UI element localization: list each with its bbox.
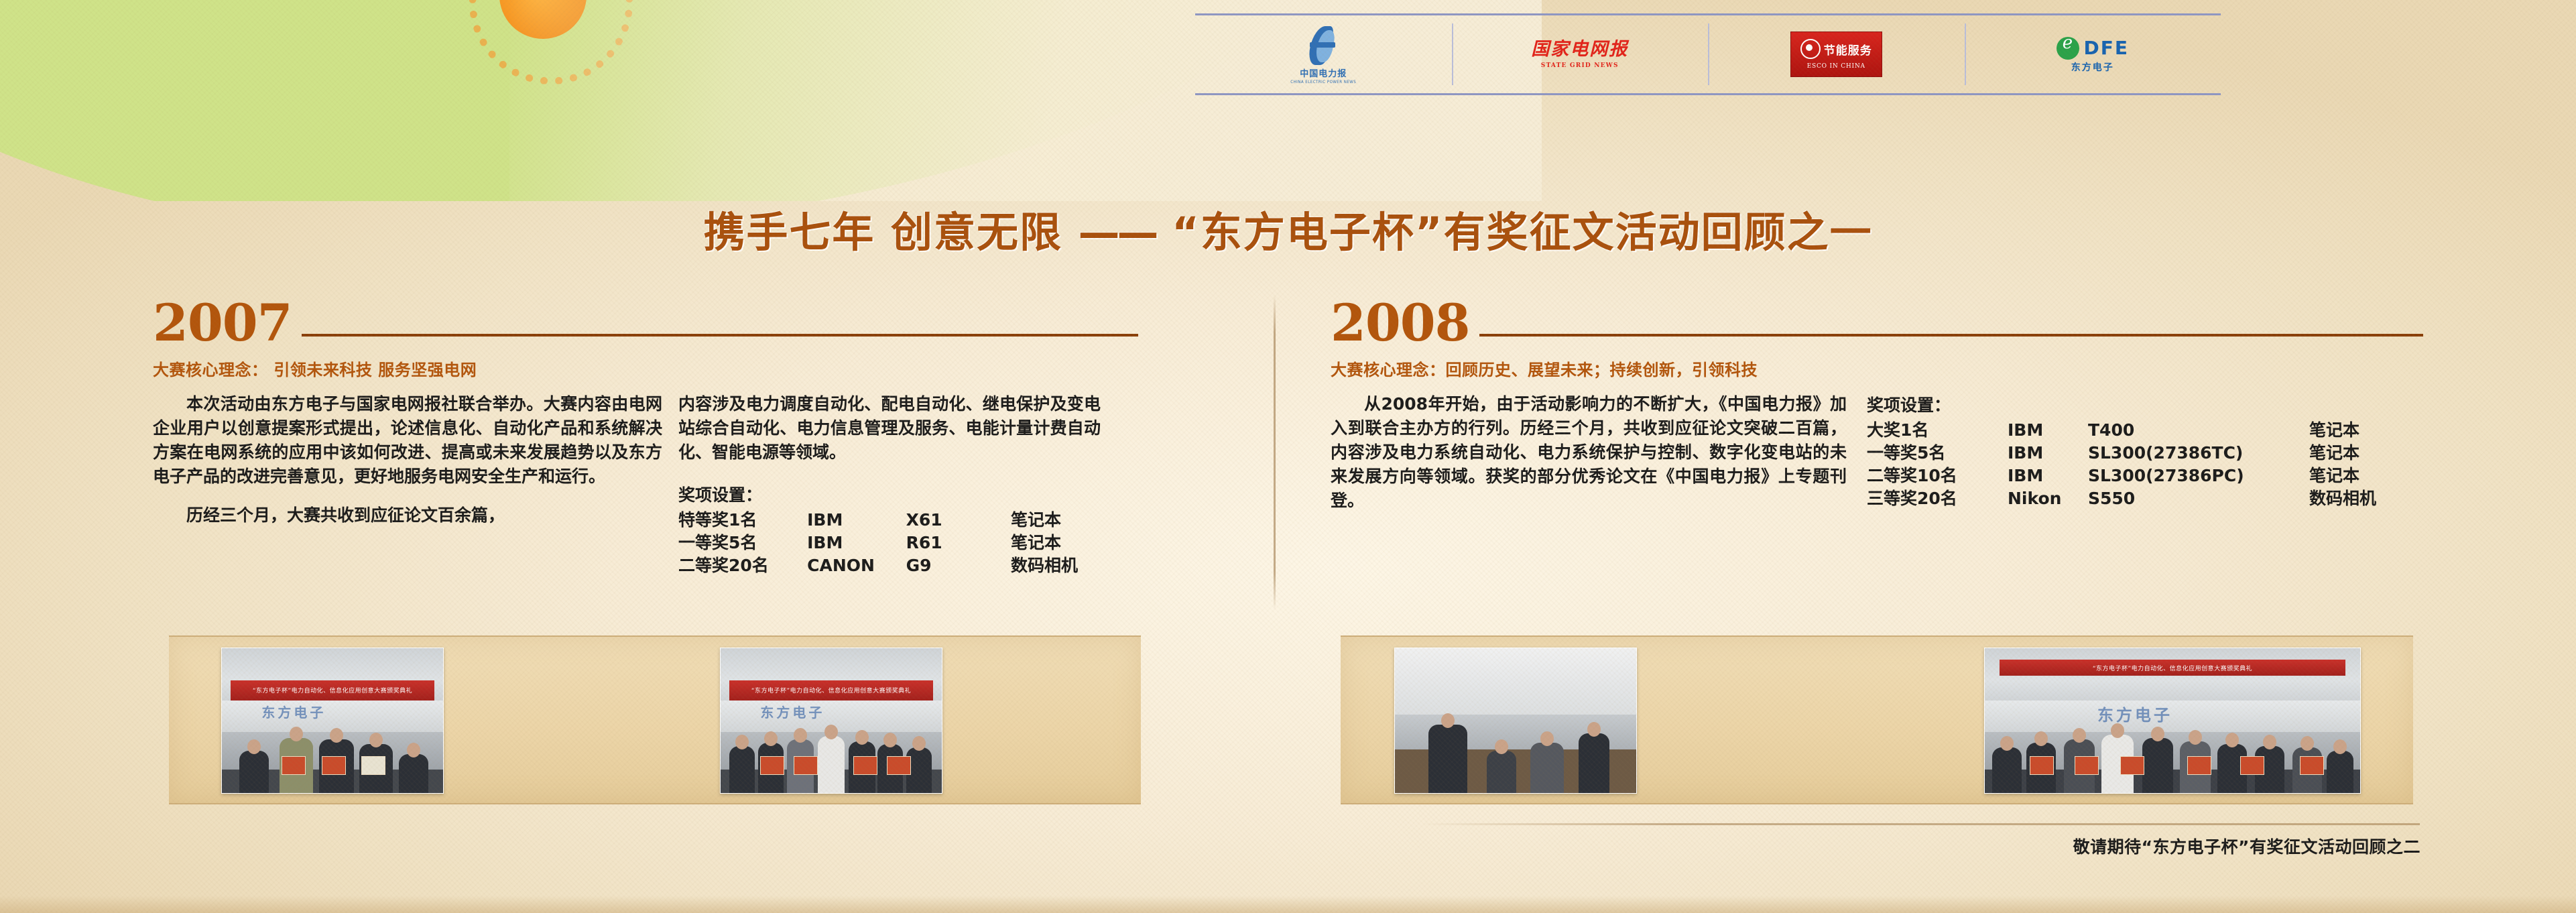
- award-level: 二等奖20名: [678, 554, 807, 577]
- page-title-left: 携手七年 创意无限: [703, 208, 1062, 257]
- award-prize: 数码相机: [1011, 554, 1101, 577]
- year-rule-2007: [302, 334, 1138, 337]
- photo-2007-1: 东方电子 “东方电子杯”电力自动化、信息化应用创意大赛颁奖典礼: [221, 648, 444, 794]
- slogan-2007: 大赛核心理念： 引领未来科技 服务坚强电网: [153, 357, 1138, 380]
- award-model: SL300(27386PC): [2088, 465, 2309, 487]
- photo-2007-2: 东方电子 “东方电子杯”电力自动化、信息化应用创意大赛颁奖典礼: [720, 648, 942, 794]
- slogan-2008: 大赛核心理念：回顾历史、展望未来；持续创新，引领科技: [1331, 357, 2423, 380]
- table-row: 二等奖20名 CANON G9 数码相机: [678, 554, 1101, 577]
- year-label-2007: 2007: [153, 299, 292, 347]
- logo-1-name: 中国电力报: [1300, 70, 1347, 78]
- page-title-right: “东方电子杯”有奖征文活动回顾之一: [1172, 208, 1873, 257]
- award-prize: 数码相机: [2309, 487, 2410, 510]
- award-brand: IBM: [2008, 465, 2088, 487]
- table-row: 特等奖1名 IBM X61 笔记本: [678, 509, 1101, 532]
- award-model: X61: [906, 509, 1011, 532]
- table-row: 大奖1名 IBM T400 笔记本: [1867, 419, 2410, 442]
- body-column-right-2008: 奖项设置： 大奖1名 IBM T400 笔记本 一等奖5名 IBM SL300(…: [1867, 392, 2410, 513]
- awards-table-2008: 大奖1名 IBM T400 笔记本 一等奖5名 IBM SL300(27386T…: [1867, 419, 2410, 510]
- body-column-right-2007: 内容涉及电力调度自动化、配电自动化、继电保护及变电站综合自动化、电力信息管理及服…: [678, 392, 1101, 577]
- table-row: 三等奖20名 Nikon S550 数码相机: [1867, 487, 2410, 510]
- partner-logo-bar: 中国电力报 CHINA ELECTRIC POWER NEWS 国家电网报 ST…: [1195, 13, 2221, 95]
- year-header-2007: 2007: [153, 292, 1138, 347]
- body-column-left-2008: 从2008年开始，由于活动影响力的不断扩大，《中国电力报》加入到联合主办方的行列…: [1331, 392, 1847, 513]
- award-model: G9: [906, 554, 1011, 577]
- awards-title-2007: 奖项设置：: [678, 482, 1101, 506]
- photo-strip-2007: 东方电子 “东方电子杯”电力自动化、信息化应用创意大赛颁奖典礼 东方电子 “东方…: [169, 635, 1141, 804]
- photo-people: [1985, 712, 2360, 793]
- award-brand: CANON: [807, 554, 906, 577]
- year-label-2008: 2008: [1331, 299, 1470, 347]
- year-header-2008: 2008: [1331, 292, 2423, 347]
- award-prize: 笔记本: [1011, 532, 1101, 554]
- table-row: 一等奖5名 IBM R61 笔记本: [678, 532, 1101, 554]
- section-vertical-divider: [1274, 295, 1276, 610]
- award-level: 一等奖5名: [678, 532, 807, 554]
- bottom-edge-shade: [0, 896, 2576, 913]
- award-level: 三等奖20名: [1867, 487, 2008, 510]
- award-brand: IBM: [2008, 442, 2088, 465]
- china-electric-power-news-mark-icon: [1308, 25, 1339, 66]
- award-brand: IBM: [2008, 419, 2088, 442]
- year-rule-2008: [1479, 334, 2423, 337]
- photo-banner-text: “东方电子杯”电力自动化、信息化应用创意大赛颁奖典礼: [729, 680, 933, 701]
- award-model: SL300(27386TC): [2088, 442, 2309, 465]
- photo-strip-2008: 东方电子 “东方电子杯”电力自动化、信息化应用创意大赛颁奖典礼: [1341, 635, 2413, 804]
- award-model: R61: [906, 532, 1011, 554]
- award-level: 一等奖5名: [1867, 442, 2008, 465]
- logo-4-subtitle: 东方电子: [2071, 63, 2114, 72]
- page-title-dash: ——: [1079, 208, 1156, 257]
- award-level: 大奖1名: [1867, 419, 2008, 442]
- logo-2-name: 国家电网报: [1531, 40, 1628, 58]
- section-2008: 2008 大赛核心理念：回顾历史、展望未来；持续创新，引领科技 从2008年开始…: [1331, 292, 2423, 513]
- logo-bar-rule-bottom: [1195, 93, 2221, 95]
- logo-1-subtitle: CHINA ELECTRIC POWER NEWS: [1290, 80, 1356, 84]
- paragraph: 从2008年开始，由于活动影响力的不断扩大，《中国电力报》加入到联合主办方的行列…: [1331, 392, 1847, 513]
- photo-2008-1: [1394, 648, 1637, 794]
- awards-table-2007: 特等奖1名 IBM X61 笔记本 一等奖5名 IBM R61 笔记本 二等奖2…: [678, 509, 1101, 577]
- table-row: 二等奖10名 IBM SL300(27386PC) 笔记本: [1867, 465, 2410, 487]
- logo-4-name: DFE: [2084, 39, 2130, 58]
- award-brand: IBM: [807, 532, 906, 554]
- award-model: T400: [2088, 419, 2309, 442]
- dfe-circle-e-icon: [2057, 37, 2079, 60]
- paragraph: 内容涉及电力调度自动化、配电自动化、继电保护及变电站综合自动化、电力信息管理及服…: [678, 392, 1101, 465]
- award-prize: 笔记本: [2309, 419, 2410, 442]
- poster-canvas: 中国电力报 CHINA ELECTRIC POWER NEWS 国家电网报 ST…: [0, 0, 2576, 913]
- logo-china-electric-power-news: 中国电力报 CHINA ELECTRIC POWER NEWS: [1195, 15, 1452, 93]
- photo-banner-text: “东方电子杯”电力自动化、信息化应用创意大赛颁奖典礼: [2000, 660, 2345, 676]
- award-prize: 笔记本: [2309, 442, 2410, 465]
- photo-people: [222, 712, 443, 793]
- footer-note: 敬请期待“东方电子杯”有奖征文活动回顾之二: [2073, 834, 2420, 858]
- paragraph: 历经三个月，大赛共收到应征论文百余篇，: [153, 503, 662, 528]
- award-prize: 笔记本: [2309, 465, 2410, 487]
- award-model: S550: [2088, 487, 2309, 510]
- logo-3-name: 节能服务: [1824, 41, 1872, 58]
- awards-title-2008: 奖项设置：: [1867, 392, 2410, 416]
- award-brand: Nikon: [2008, 487, 2088, 510]
- table-row: 一等奖5名 IBM SL300(27386TC) 笔记本: [1867, 442, 2410, 465]
- logo-2-subtitle: STATE GRID NEWS: [1541, 63, 1619, 69]
- award-level: 二等奖10名: [1867, 465, 2008, 487]
- photo-2008-2: 东方电子 “东方电子杯”电力自动化、信息化应用创意大赛颁奖典礼: [1984, 648, 2361, 794]
- esco-leaf-icon: [1800, 39, 1821, 59]
- logo-state-grid-news: 国家电网报 STATE GRID NEWS: [1452, 15, 1709, 93]
- award-prize: 笔记本: [1011, 509, 1101, 532]
- photo-banner-text: “东方电子杯”电力自动化、信息化应用创意大赛颁奖典礼: [231, 680, 434, 701]
- logo-3-subtitle: ESCO IN CHINA: [1807, 63, 1865, 70]
- award-brand: IBM: [807, 509, 906, 532]
- award-level: 特等奖1名: [678, 509, 807, 532]
- logo-esco-in-china: 节能服务 ESCO IN CHINA: [1708, 15, 1965, 93]
- body-column-left-2007: 本次活动由东方电子与国家电网报社联合举办。大赛内容由电网企业用户以创意提案形式提…: [153, 392, 662, 577]
- photo-people: [721, 712, 942, 793]
- photo-wall: [1395, 648, 1636, 715]
- photo-people: [1395, 712, 1636, 793]
- page-title: 携手七年 创意无限 —— “东方电子杯”有奖征文活动回顾之一: [0, 198, 2576, 259]
- footer-divider: [1421, 823, 2420, 825]
- section-2007: 2007 大赛核心理念： 引领未来科技 服务坚强电网 本次活动由东方电子与国家电…: [153, 292, 1138, 577]
- logo-dfe-dongfang-electronics: DFE 东方电子: [1965, 15, 2221, 93]
- paragraph: 本次活动由东方电子与国家电网报社联合举办。大赛内容由电网企业用户以创意提案形式提…: [153, 392, 662, 489]
